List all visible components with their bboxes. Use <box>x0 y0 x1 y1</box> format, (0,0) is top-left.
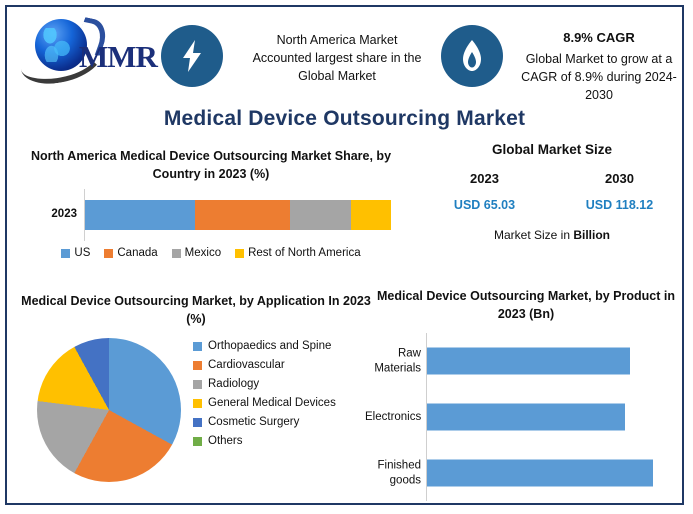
product-bar-plot: Raw MaterialsElectronicsFinished goods <box>365 333 687 501</box>
product-bar <box>427 404 625 431</box>
page-title: Medical Device Outsourcing Market <box>7 107 682 131</box>
product-bar <box>427 348 630 375</box>
infographic-frame: MMR North America Market Accounted large… <box>5 5 684 505</box>
brand-logo-text: MMR <box>79 39 157 75</box>
product-bar-row: Finished goods <box>365 445 687 501</box>
pie-legend-swatch <box>193 361 202 370</box>
pie-chart <box>37 338 181 482</box>
brand-logo: MMR <box>17 13 149 79</box>
pie-legend-item: Cardiovascular <box>193 359 371 371</box>
gms-year-2030: 2030 <box>552 171 687 186</box>
header-b2-line3: 2030 <box>585 88 613 102</box>
cagr-headline: 8.9% CAGR <box>505 29 693 48</box>
pie-legend-item: Radiology <box>193 378 371 390</box>
legend-label: Rest of North America <box>248 247 360 259</box>
flame-icon <box>441 25 503 87</box>
pie-legend-item: Cosmetic Surgery <box>193 416 371 428</box>
header-text-block-2: 8.9% CAGR Global Market to grow at a CAG… <box>505 29 693 104</box>
pie-legend-swatch <box>193 399 202 408</box>
legend-label: US <box>74 247 90 259</box>
chart-north-america-share: North America Medical Device Outsourcing… <box>21 147 401 259</box>
stacked-bar-plot: 2023 <box>21 195 401 241</box>
header: MMR North America Market Accounted large… <box>7 7 682 102</box>
gms-note-bold: Billion <box>573 228 610 242</box>
stacked-bar <box>85 200 391 230</box>
header-text-block-1: North America Market Accounted largest s… <box>229 31 445 85</box>
chart-title-application: Medical Device Outsourcing Market, by Ap… <box>21 292 371 328</box>
pie-legend-item: Orthopaedics and Spine <box>193 340 371 352</box>
header-b1-line3: Global Market <box>298 69 376 83</box>
chart-product-2023: Medical Device Outsourcing Market, by Pr… <box>365 287 687 505</box>
product-bar-label: Finished goods <box>365 459 421 488</box>
header-b1-line1: North America Market <box>277 33 398 47</box>
product-bar <box>427 460 653 487</box>
legend-swatch <box>61 249 70 258</box>
stacked-bar-segment <box>351 200 391 230</box>
chart-title-product: Medical Device Outsourcing Market, by Pr… <box>365 287 687 323</box>
gms-value-2023: USD 65.03 <box>417 198 552 212</box>
product-bar-label: Electronics <box>365 410 421 424</box>
legend-item: Rest of North America <box>235 247 360 259</box>
stacked-bar-segment <box>195 200 290 230</box>
gms-year-2023: 2023 <box>417 171 552 186</box>
legend-swatch <box>172 249 181 258</box>
gms-value-2030: USD 118.12 <box>552 198 687 212</box>
stacked-bar-legend: USCanadaMexicoRest of North America <box>21 247 401 259</box>
pie-legend-label: Cardiovascular <box>208 359 285 371</box>
pie-legend-swatch <box>193 418 202 427</box>
legend-item: Mexico <box>172 247 221 259</box>
legend-label: Canada <box>117 247 157 259</box>
pie-legend-label: Radiology <box>208 378 259 390</box>
pie-legend: Orthopaedics and SpineCardiovascularRadi… <box>193 340 371 447</box>
pie-legend-swatch <box>193 342 202 351</box>
legend-item: Canada <box>104 247 157 259</box>
legend-swatch <box>104 249 113 258</box>
stacked-bar-category-label: 2023 <box>29 208 77 220</box>
header-b1-line2: Accounted largest share in the <box>253 51 422 65</box>
chart-application-share: Medical Device Outsourcing Market, by Ap… <box>21 292 371 488</box>
pie-legend-label: Cosmetic Surgery <box>208 416 299 428</box>
global-market-size-title: Global Market Size <box>417 142 687 157</box>
pie-legend-item: General Medical Devices <box>193 397 371 409</box>
gms-note-prefix: Market Size in <box>494 228 573 242</box>
legend-label: Mexico <box>185 247 221 259</box>
header-b2-line1: Global Market to grow at a <box>526 52 673 66</box>
pie-legend-swatch <box>193 437 202 446</box>
lightning-bolt-icon <box>161 25 223 87</box>
pie-legend-label: Orthopaedics and Spine <box>208 340 331 352</box>
header-b2-line2: CAGR of 8.9% during 2024- <box>521 70 677 84</box>
product-bar-row: Electronics <box>365 389 687 445</box>
pie-legend-label: General Medical Devices <box>208 397 336 409</box>
stacked-bar-segment <box>290 200 351 230</box>
pie-legend-item: Others <box>193 435 371 447</box>
legend-item: US <box>61 247 90 259</box>
gms-units-note: Market Size in Billion <box>417 228 687 242</box>
pie-legend-swatch <box>193 380 202 389</box>
product-bar-label: Raw Materials <box>365 347 421 376</box>
product-bar-row: Raw Materials <box>365 333 687 389</box>
stacked-bar-segment <box>85 200 195 230</box>
legend-swatch <box>235 249 244 258</box>
global-market-size-panel: Global Market Size 2023 2030 USD 65.03 U… <box>417 142 687 242</box>
chart-title-north-america: North America Medical Device Outsourcing… <box>21 147 401 183</box>
pie-legend-label: Others <box>208 435 243 447</box>
